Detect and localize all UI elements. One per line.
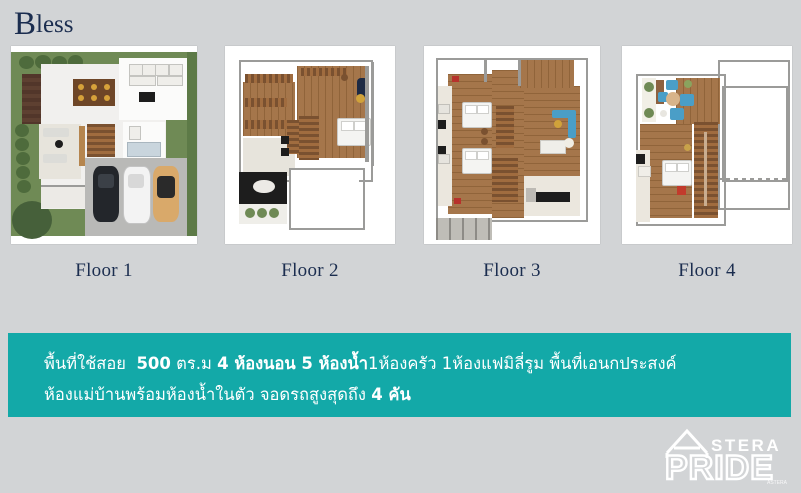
page-title-rest: less	[36, 11, 74, 38]
floor-label-1: Floor 1	[11, 260, 197, 282]
floor-plan-image-4[interactable]	[622, 46, 792, 244]
spec-kitchen-family-multipurpose: 1ห้องครัว 1ห้องแฟมิลี่รูม พื้นที่เอนกประ…	[368, 354, 677, 373]
page-title-initial: B	[14, 6, 36, 42]
spec-line-2: ห้องแม่บ้านพร้อมห้องน้ำในตัว จอดรถสูงสุด…	[44, 382, 411, 408]
floor-card-2[interactable]: Floor 2	[225, 46, 395, 282]
floor-card-4[interactable]: Floor 4	[622, 46, 792, 282]
spec-area-value: 500	[136, 354, 170, 373]
floor-plan-image-2[interactable]	[225, 46, 395, 244]
spec-banner: พื้นที่ใช้สอย 500 ตร.ม 4 ห้องนอน 5 ห้องน…	[8, 333, 791, 417]
page-title: Bless	[14, 8, 74, 42]
floor-label-4: Floor 4	[622, 260, 792, 282]
spec-parking-value: 4 คัน	[371, 385, 411, 404]
logo-subtext: ASTERA	[767, 480, 788, 485]
floor-plan-image-1[interactable]	[11, 46, 197, 244]
astera-pride-logo: STERA PRIDE ASTERA	[663, 427, 791, 485]
logo-bottom-text: PRIDE	[665, 449, 774, 485]
floor-card-3[interactable]: Floor 3	[424, 46, 600, 282]
floor-card-1[interactable]: Floor 1	[11, 46, 197, 282]
logo-mark: STERA PRIDE ASTERA	[663, 427, 791, 485]
spec-usable-area-label: พื้นที่ใช้สอย	[44, 354, 126, 373]
spec-bedrooms-bathrooms: 4 ห้องนอน 5 ห้องน้ำ	[217, 354, 368, 373]
floor-plan-gallery: Floor 1	[0, 46, 801, 291]
spec-maid-room-parking-label: ห้องแม่บ้านพร้อมห้องน้ำในตัว จอดรถสูงสุด…	[44, 385, 366, 404]
spec-line-1: พื้นที่ใช้สอย 500 ตร.ม 4 ห้องนอน 5 ห้องน…	[44, 351, 677, 377]
floor-label-2: Floor 2	[225, 260, 395, 282]
spec-area-unit: ตร.ม	[176, 354, 212, 373]
floor-plan-image-3[interactable]	[424, 46, 600, 244]
floor-label-3: Floor 3	[424, 260, 600, 282]
